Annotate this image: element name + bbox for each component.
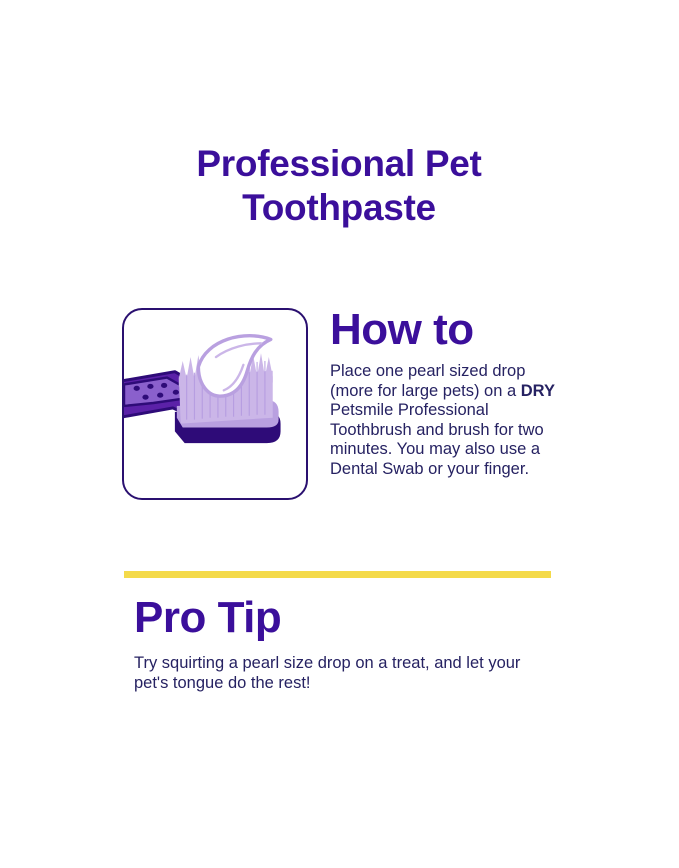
product-title-line-1: Professional Pet (196, 143, 481, 184)
how-to-body-part-2: Petsmile Professional Toothbrush and bru… (330, 401, 544, 478)
how-to-section: How to Place one pearl sized drop (more … (0, 306, 679, 516)
how-to-text-block: How to Place one pearl sized drop (more … (330, 306, 560, 479)
infographic-page: Professional Pet Toothpaste (0, 0, 679, 868)
section-divider (124, 571, 551, 578)
how-to-heading: How to (330, 306, 560, 354)
page-title: Professional Pet Toothpaste (124, 142, 554, 230)
pro-tip-section: Pro Tip Try squirting a pearl size drop … (134, 592, 564, 693)
product-title-line-2: Toothpaste (242, 187, 436, 228)
how-to-body-part-1: Place one pearl sized drop (more for lar… (330, 362, 525, 400)
toothbrush-with-paste-icon (124, 310, 306, 498)
how-to-body-emphasis: DRY (521, 382, 555, 400)
how-to-body: Place one pearl sized drop (more for lar… (330, 362, 560, 479)
pro-tip-heading: Pro Tip (134, 592, 564, 644)
toothbrush-icon-box (122, 308, 308, 500)
pro-tip-body: Try squirting a pearl size drop on a tre… (134, 653, 554, 693)
